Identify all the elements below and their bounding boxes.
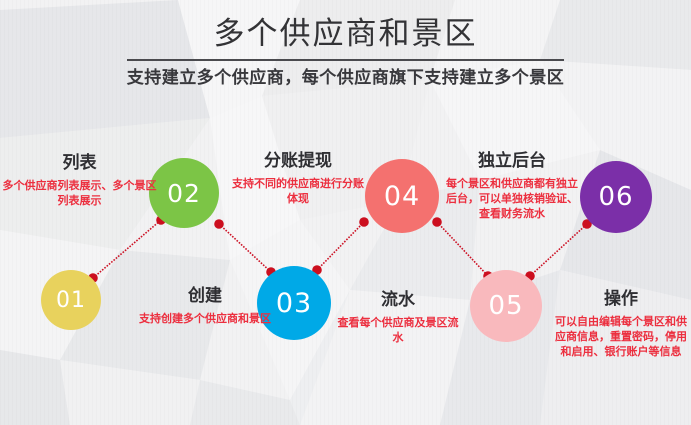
step-desc-03: 查看每个供应商及景区流水 — [333, 315, 463, 345]
slide-canvas: 多个供应商和景区 支持建立多个供应商，每个供应商旗下支持建立多个景区 — [0, 0, 691, 425]
step-text-06: 独立后台 每个景区和供应商都有独立后台，可以单独核销验证、查看财务流水 — [441, 150, 583, 221]
header: 多个供应商和景区 支持建立多个供应商，每个供应商旗下支持建立多个景区 — [0, 14, 691, 89]
step-text-01: 列表 多个供应商列表展示、多个景区列表展示 — [2, 152, 157, 208]
step-title-03: 流水 — [333, 289, 463, 312]
step-title-01: 列表 — [2, 152, 157, 175]
step-text-02: 创建 支持创建多个供应商和景区 — [130, 285, 280, 326]
step-circle-02[interactable]: 02 — [149, 158, 219, 228]
step-number-06: 06 — [598, 182, 633, 212]
subtitle-container: 支持建立多个供应商，每个供应商旗下支持建立多个景区 — [127, 59, 565, 89]
page-title: 多个供应商和景区 — [0, 14, 691, 54]
step-circle-05[interactable]: 05 — [470, 270, 542, 342]
step-number-05: 05 — [488, 291, 523, 321]
step-title-02: 创建 — [130, 285, 280, 308]
step-number-02: 02 — [167, 179, 201, 208]
step-text-03: 流水 查看每个供应商及景区流水 — [333, 289, 463, 345]
step-text-04: 分账提现 支持不同的供应商进行分账体现 — [232, 150, 364, 206]
step-desc-06: 每个景区和供应商都有独立后台，可以单独核销验证、查看财务流水 — [441, 176, 583, 221]
step-text-05: 操作 可以自由编辑每个景区和供应商信息，重置密码，停用和启用、银行账户等信息 — [554, 288, 688, 359]
step-number-04: 04 — [384, 181, 420, 212]
step-number-01: 01 — [56, 288, 86, 313]
step-title-04: 分账提现 — [232, 150, 364, 173]
step-desc-01: 多个供应商列表展示、多个景区列表展示 — [2, 178, 157, 208]
step-desc-05: 可以自由编辑每个景区和供应商信息，重置密码，停用和启用、银行账户等信息 — [554, 314, 688, 359]
step-circle-04[interactable]: 04 — [365, 159, 439, 233]
step-circle-01[interactable]: 01 — [41, 270, 101, 330]
page-subtitle: 支持建立多个供应商，每个供应商旗下支持建立多个景区 — [127, 67, 565, 89]
step-circle-06[interactable]: 06 — [580, 161, 652, 233]
step-desc-04: 支持不同的供应商进行分账体现 — [232, 176, 364, 206]
step-title-05: 操作 — [554, 288, 688, 311]
step-number-03: 03 — [276, 288, 312, 319]
step-desc-02: 支持创建多个供应商和景区 — [130, 311, 280, 326]
step-title-06: 独立后台 — [441, 150, 583, 173]
